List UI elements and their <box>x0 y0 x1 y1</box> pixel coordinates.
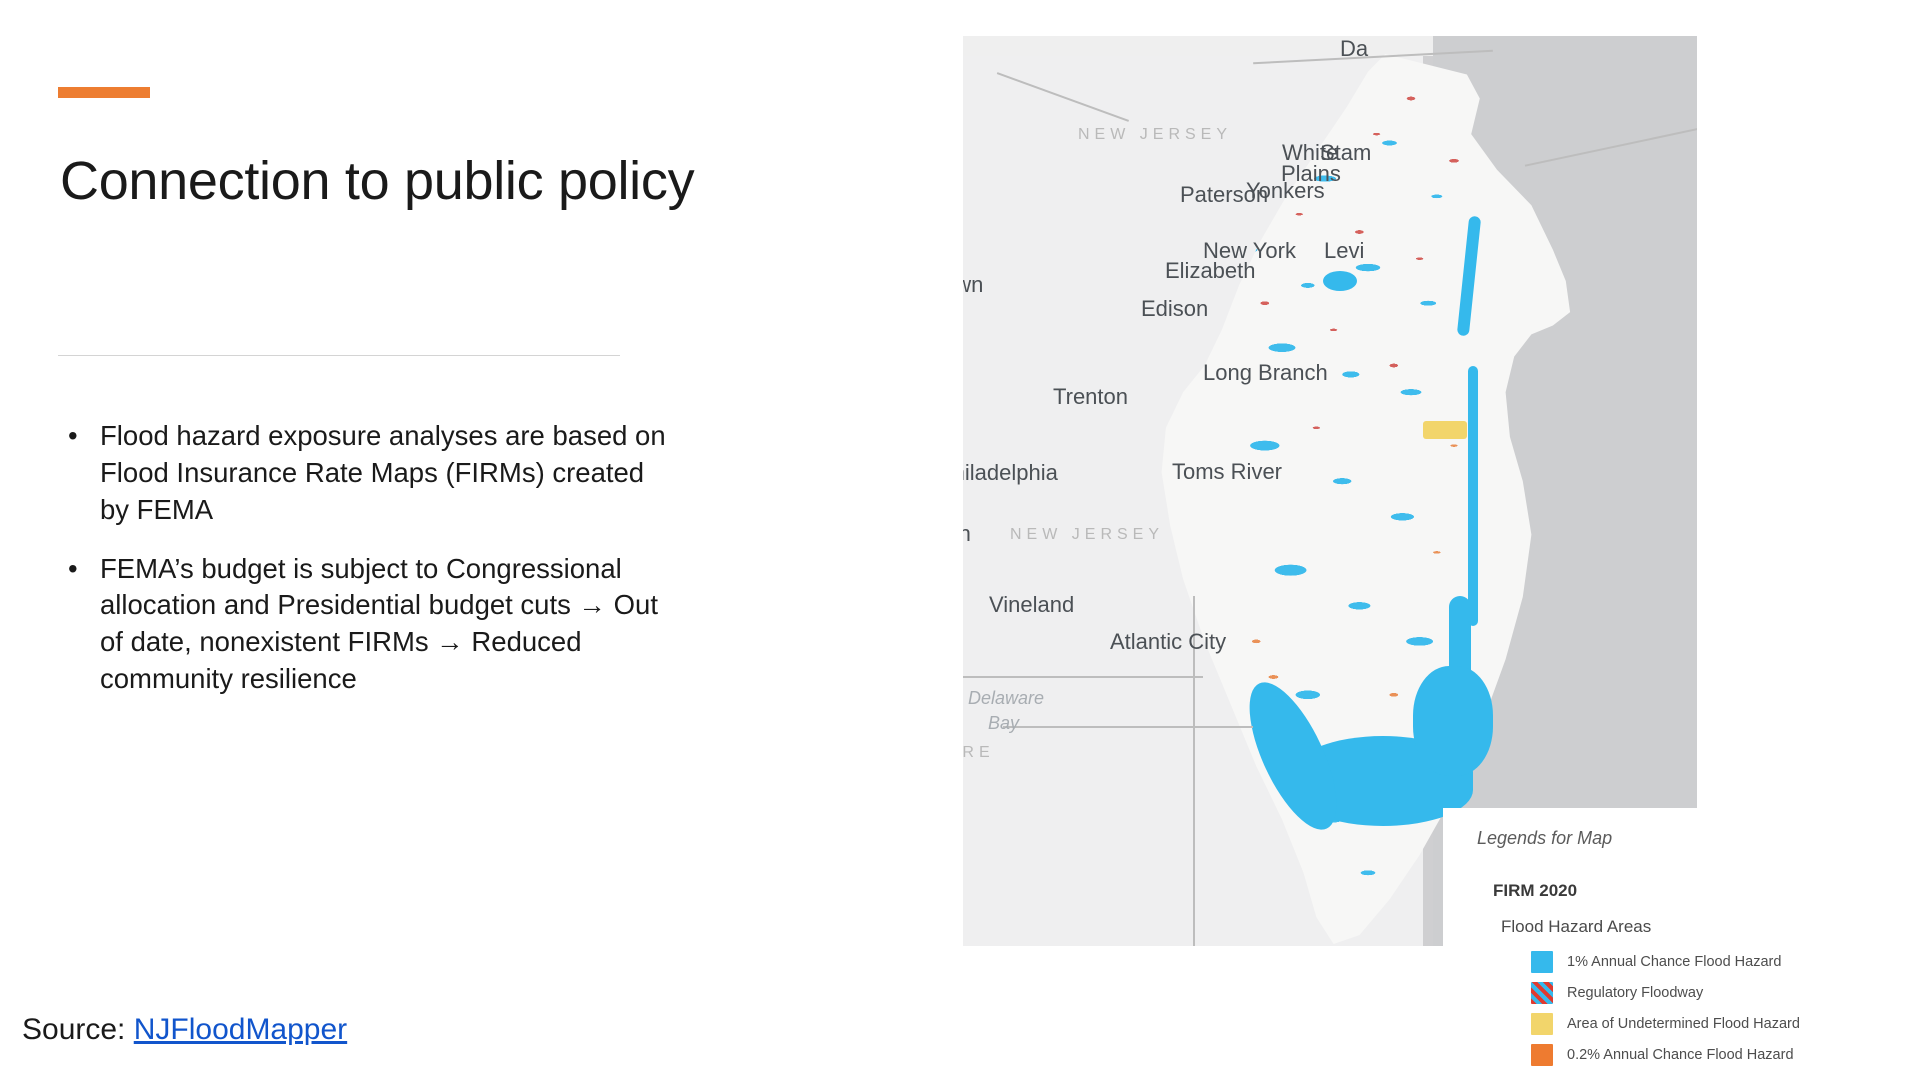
map-label-elizabeth: Elizabeth <box>1165 258 1256 284</box>
source-prefix-label: Source: <box>22 1013 134 1046</box>
legend-item-02pct-swatch-icon <box>1531 1044 1553 1066</box>
page-title: Connection to public policy <box>60 150 700 214</box>
map-label-bay-delaware-line2: Bay <box>988 713 1019 734</box>
map-label-toms-river: Toms River <box>1172 459 1282 485</box>
map-label-stamford: Stam <box>1320 140 1371 166</box>
legend-item-1pct: 1% Annual Chance Flood Hazard <box>1531 951 1905 973</box>
map-border-de-md <box>1003 726 1253 728</box>
legend-item-1pct-swatch-icon <box>1531 951 1553 973</box>
legend-item-02pct-label: 0.2% Annual Chance Flood Hazard <box>1567 1047 1794 1063</box>
map-label-philadelphia: Philadelphia <box>963 460 1058 486</box>
bullet-marker-icon: • <box>68 551 78 588</box>
slide-root: Connection to public policy • Flood haza… <box>0 0 1920 1080</box>
map-border-pa-md <box>963 676 1203 678</box>
accent-bar <box>58 87 150 98</box>
list-item-text: Flood hazard exposure analyses are based… <box>100 420 666 525</box>
legend-item-undetermined: Area of Undetermined Flood Hazard <box>1531 1013 1905 1035</box>
list-item-text: FEMA’s budget is subject to Congressiona… <box>100 553 658 695</box>
legend-heading: Legends for Map <box>1477 828 1905 849</box>
legend-group-title: Flood Hazard Areas <box>1501 917 1905 937</box>
map-undetermined-hazard-patch <box>1423 421 1467 439</box>
map-label-state-new-jersey-south: NEW JERSEY <box>1010 526 1164 544</box>
bullet-list: • Flood hazard exposure analyses are bas… <box>58 418 678 720</box>
map-label-danville: Da <box>1340 36 1368 62</box>
map-label-atlantic-city: Atlantic City <box>1110 629 1226 655</box>
map-label-allentown: Allentown <box>963 272 983 298</box>
map-label-wilmington: Wilmington <box>963 521 971 547</box>
legend-item-undetermined-label: Area of Undetermined Flood Hazard <box>1567 1016 1800 1032</box>
list-item: • FEMA’s budget is subject to Congressio… <box>58 551 678 698</box>
legend-item-02pct: 0.2% Annual Chance Flood Hazard <box>1531 1044 1905 1066</box>
map-label-levittown: Levi <box>1324 238 1364 264</box>
map-great-bay <box>1413 666 1493 776</box>
map-coastal-inlet-strip <box>1468 366 1478 626</box>
map-label-trenton: Trenton <box>1053 384 1128 410</box>
map-label-state-delaware: DELAWARE <box>963 744 995 762</box>
title-divider <box>58 355 620 356</box>
legend-item-floodway-swatch-icon <box>1531 982 1553 1004</box>
legend-item-undetermined-swatch-icon <box>1531 1013 1553 1035</box>
map-label-long-branch: Long Branch <box>1203 360 1328 386</box>
map-legend-panel: Legends for Map FIRM 2020 Flood Hazard A… <box>1443 808 1905 1080</box>
map-label-edison: Edison <box>1141 296 1208 322</box>
slide-left-column: Connection to public policy • Flood haza… <box>0 0 780 1080</box>
legend-item-1pct-label: 1% Annual Chance Flood Hazard <box>1567 954 1781 970</box>
legend-item-floodway: Regulatory Floodway <box>1531 982 1905 1004</box>
legend-item-list: 1% Annual Chance Flood HazardRegulatory … <box>1443 951 1905 1066</box>
map-label-bay-delaware-line1: Delaware <box>968 688 1044 709</box>
map-lake-hopatcong <box>1323 271 1357 291</box>
source-line: Source: NJFloodMapper <box>22 1013 347 1047</box>
map-label-state-new-jersey-north: NEW JERSEY <box>1078 126 1232 144</box>
source-link[interactable]: NJFloodMapper <box>134 1013 347 1046</box>
map-label-vineland: Vineland <box>989 592 1074 618</box>
bullet-marker-icon: • <box>68 418 78 455</box>
legend-firm-title: FIRM 2020 <box>1493 881 1905 901</box>
list-item: • Flood hazard exposure analyses are bas… <box>58 418 678 529</box>
legend-item-floodway-label: Regulatory Floodway <box>1567 985 1703 1001</box>
